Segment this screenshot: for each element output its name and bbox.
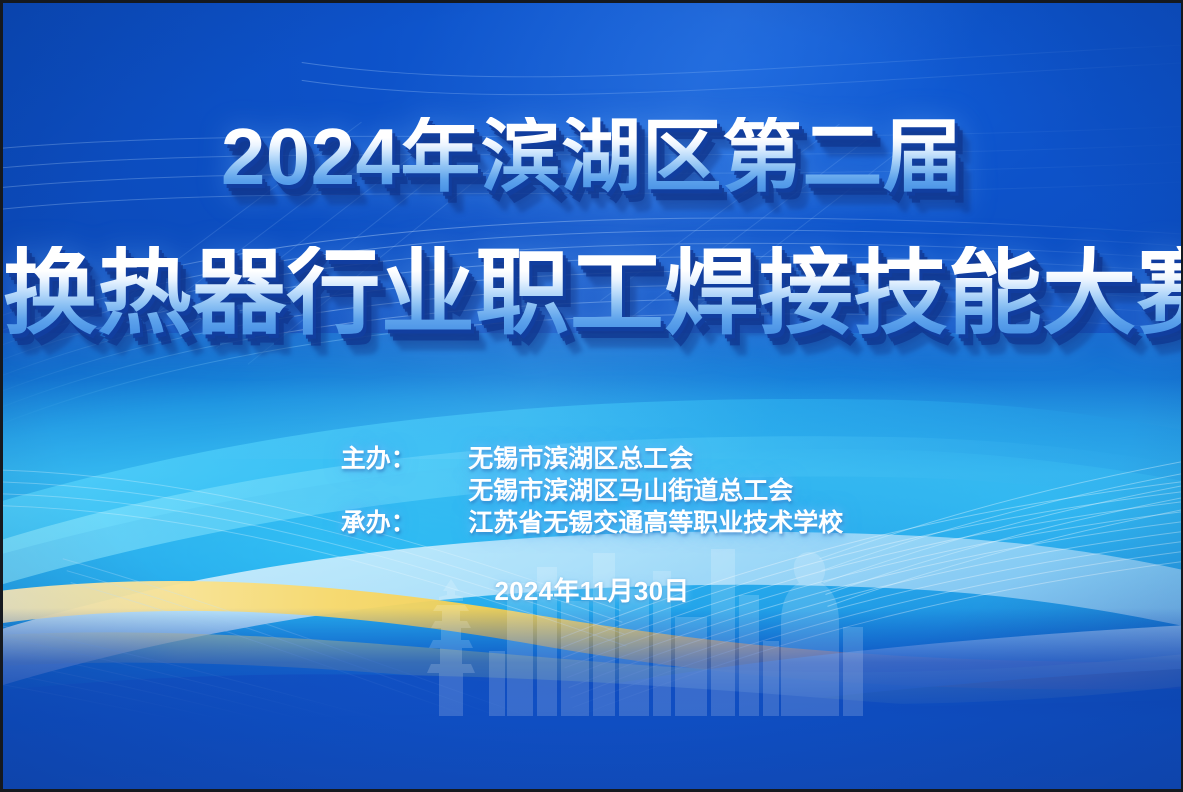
poster-banner: 2024年滨湖区第二届 换热器行业职工焊接技能大赛 主办：无锡市滨湖区总工会 主…	[0, 0, 1183, 792]
background-bottom-wash	[3, 608, 1181, 789]
event-date: 2024年11月30日	[3, 571, 1181, 608]
background-artwork	[3, 3, 1181, 789]
organizer-row-host-1: 主办：无锡市滨湖区总工会	[341, 443, 844, 475]
host-name-1: 无锡市滨湖区总工会	[468, 445, 693, 473]
host-label: 主办：	[341, 443, 469, 475]
organizer-row-cohost: 承办：江苏省无锡交通高等职业技术学校	[341, 507, 844, 539]
organizer-block: 主办：无锡市滨湖区总工会 主办：无锡市滨湖区马山街道总工会 承办：江苏省无锡交通…	[3, 443, 1181, 539]
organizer-row-host-2: 主办：无锡市滨湖区马山街道总工会	[341, 475, 844, 507]
background-sheen	[3, 3, 1181, 459]
cohost-label: 承办：	[341, 507, 469, 539]
cohost-name-1: 江苏省无锡交通高等职业技术学校	[468, 509, 843, 537]
host-name-2: 无锡市滨湖区马山街道总工会	[468, 477, 793, 505]
